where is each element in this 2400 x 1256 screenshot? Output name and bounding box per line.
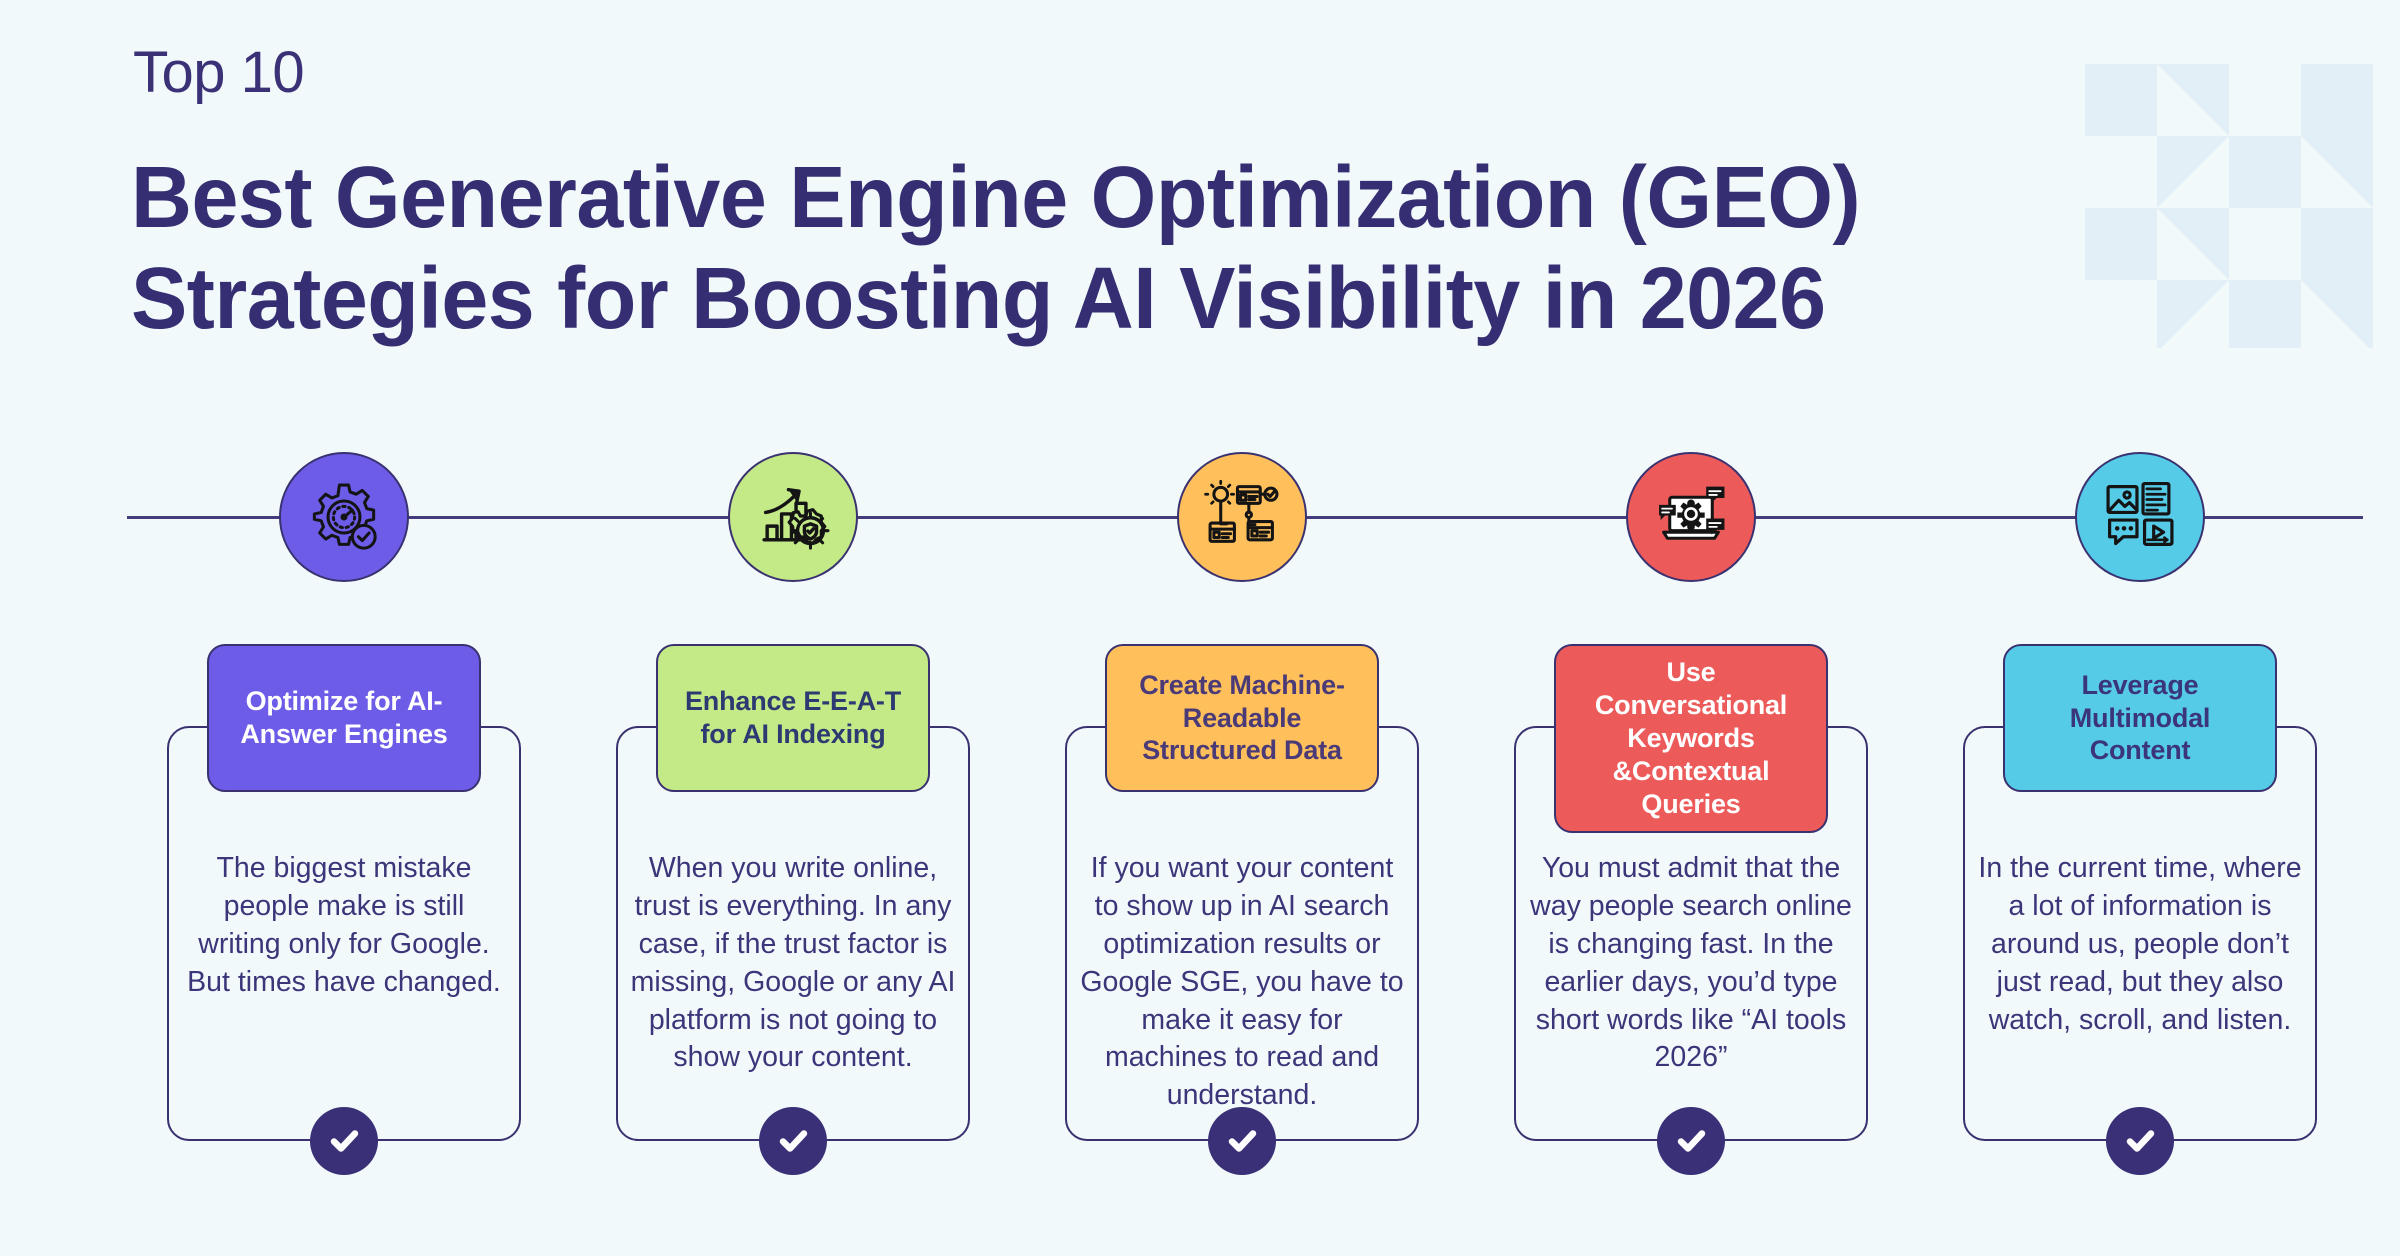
- structured-data-schema-nodes-icon: [1204, 479, 1280, 555]
- step-title-3: Create Machine-Readable Structured Data: [1119, 669, 1365, 768]
- step-column-2: Enhance E-E-A-T for AI Indexing When you…: [573, 0, 1013, 1256]
- step-check-badge-2[interactable]: [759, 1107, 827, 1175]
- step-title-1: Optimize for AI-Answer Engines: [221, 685, 467, 751]
- laptop-gear-chat-bubbles-icon: [1653, 479, 1729, 555]
- step-title-badge-2[interactable]: Enhance E-E-A-T for AI Indexing: [656, 644, 930, 792]
- step-column-5: Leverage Multimodal Content In the curre…: [1920, 0, 2360, 1256]
- step-icon-circle-5[interactable]: [2075, 452, 2205, 582]
- step-column-3: Create Machine-Readable Structured Data …: [1022, 0, 1462, 1256]
- step-title-badge-5[interactable]: Leverage Multimodal Content: [2003, 644, 2277, 792]
- multimodal-image-doc-chat-video-icon: [2102, 479, 2178, 555]
- step-icon-circle-3[interactable]: [1177, 452, 1307, 582]
- step-body-4: You must admit that the way people searc…: [1526, 850, 1856, 1077]
- check-circle-icon: [324, 1121, 364, 1161]
- check-circle-icon: [2120, 1121, 2160, 1161]
- step-title-badge-3[interactable]: Create Machine-Readable Structured Data: [1105, 644, 1379, 792]
- bar-chart-growth-gear-shield-icon: [755, 479, 831, 555]
- gear-speedometer-check-icon: [306, 479, 382, 555]
- step-title-4: Use Conversational Keywords &Contextual …: [1568, 656, 1814, 821]
- step-title-badge-4[interactable]: Use Conversational Keywords &Contextual …: [1554, 644, 1828, 833]
- step-body-1: The biggest mistake people make is still…: [179, 850, 509, 1002]
- step-body-5: In the current time, where a lot of info…: [1975, 850, 2305, 1039]
- check-circle-icon: [1671, 1121, 1711, 1161]
- infographic-canvas: Top 10 Best Generative Engine Optimizati…: [0, 0, 2400, 1256]
- step-title-badge-1[interactable]: Optimize for AI-Answer Engines: [207, 644, 481, 792]
- check-circle-icon: [773, 1121, 813, 1161]
- step-column-1: Optimize for AI-Answer Engines The bigge…: [124, 0, 564, 1256]
- step-check-badge-3[interactable]: [1208, 1107, 1276, 1175]
- step-body-3: If you want your content to show up in A…: [1077, 850, 1407, 1115]
- step-icon-circle-4[interactable]: [1626, 452, 1756, 582]
- step-title-5: Leverage Multimodal Content: [2017, 669, 2263, 768]
- step-icon-circle-2[interactable]: [728, 452, 858, 582]
- step-check-badge-4[interactable]: [1657, 1107, 1725, 1175]
- step-body-2: When you write online, trust is everythi…: [628, 850, 958, 1077]
- step-column-4: Use Conversational Keywords &Contextual …: [1471, 0, 1911, 1256]
- step-icon-circle-1[interactable]: [279, 452, 409, 582]
- step-check-badge-5[interactable]: [2106, 1107, 2174, 1175]
- step-title-2: Enhance E-E-A-T for AI Indexing: [670, 685, 916, 751]
- check-circle-icon: [1222, 1121, 1262, 1161]
- step-check-badge-1[interactable]: [310, 1107, 378, 1175]
